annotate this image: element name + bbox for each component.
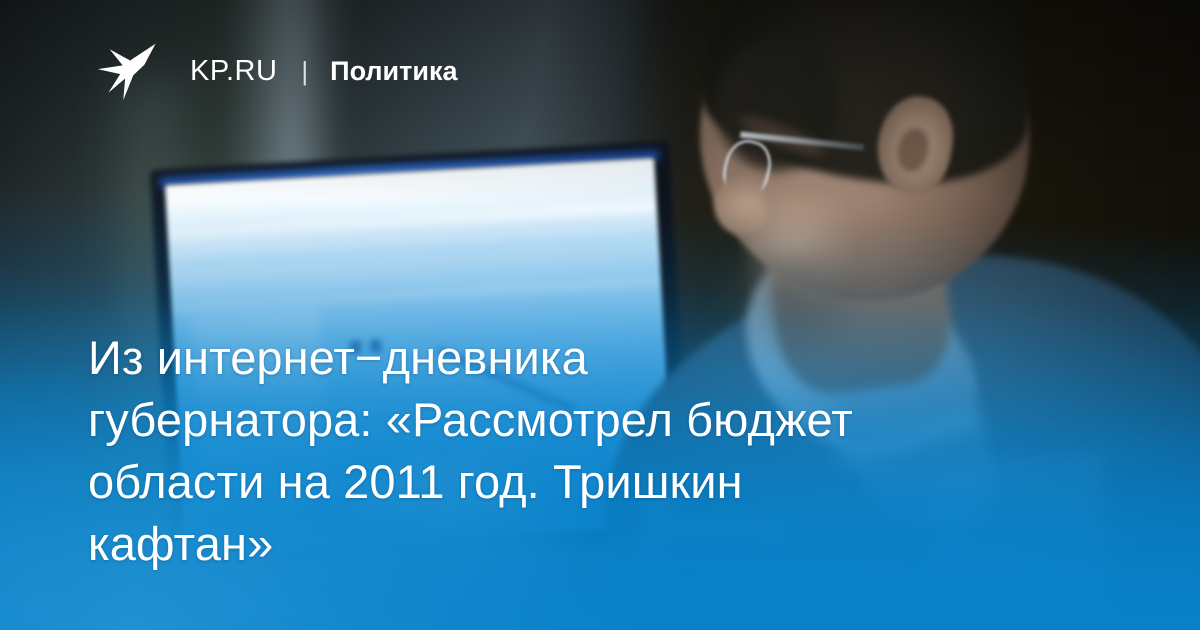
header-divider: | <box>301 58 308 84</box>
swallow-bird-logo-icon[interactable] <box>96 40 158 102</box>
headline: Из интернет−дневника губернатора: «Рассм… <box>88 327 1108 575</box>
card-header: KP.RU | Политика <box>96 40 457 102</box>
headline-line-3: области на 2011 год. Тришкин <box>88 451 1108 513</box>
headline-line-1: Из интернет−дневника <box>88 327 1108 389</box>
brand-name[interactable]: KP.RU <box>190 57 277 86</box>
headline-line-4: кафтан» <box>88 513 1108 575</box>
rubric-label[interactable]: Политика <box>330 58 457 85</box>
share-card: KP.RU | Политика Из интернет−дневника гу… <box>0 0 1200 630</box>
headline-line-2: губернатора: «Рассмотрел бюджет <box>88 389 1108 451</box>
